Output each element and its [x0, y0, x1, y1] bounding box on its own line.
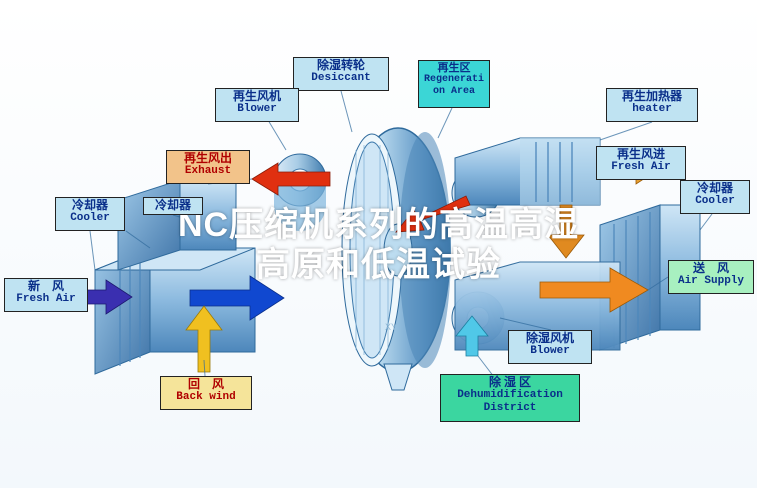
label-regen-blower-cn: 再生风机 [218, 90, 296, 103]
label-regen-blower: 再生风机Blower [215, 88, 299, 122]
label-dehum-blower-cn: 除湿风机 [511, 332, 589, 345]
label-dehum-district: 除 湿 区DehumidificationDistrict [440, 374, 580, 422]
label-cooler-right: 冷却器Cooler [680, 180, 750, 214]
label-dehum-blower-en: Blower [511, 345, 589, 357]
label-regen-fresh-air: 再生风进Fresh Air [596, 146, 686, 180]
label-cooler-left: 冷却器Cooler [55, 197, 125, 231]
label-regen-fresh-air-cn: 再生风进 [599, 148, 683, 161]
label-air-supply-en: Air Supply [671, 275, 751, 287]
label-regen-heater-cn: 再生加热器 [609, 90, 695, 103]
label-regen-exhaust: 再生风出Exhaust [166, 150, 250, 184]
label-air-supply-cn: 送 风 [671, 262, 751, 275]
diagram-canvas: XY NC压缩机系列的高温高湿 高原和低温试验 除湿转轮Desiccant再生区… [0, 0, 757, 488]
label-air-supply: 送 风Air Supply [668, 260, 754, 294]
label-regen-heater-en: heater [609, 103, 695, 115]
label-cooler-left-cn: 冷却器 [58, 199, 122, 212]
label-fresh-air-en: Fresh Air [7, 293, 85, 305]
label-regen-fresh-air-en: Fresh Air [599, 161, 683, 173]
label-fresh-air: 新 风Fresh Air [4, 278, 88, 312]
label-regen-exhaust-cn: 再生风出 [169, 152, 247, 165]
label-back-wind-en: Back wind [163, 391, 249, 403]
label-back-wind: 回 风Back wind [160, 376, 252, 410]
label-dehum-district-en-2: District [443, 402, 577, 414]
label-dehum-district-en: Dehumidification [443, 389, 577, 401]
label-dehum-blower: 除湿风机Blower [508, 330, 592, 364]
label-cooler-mid-cn: 冷却器 [146, 199, 200, 212]
label-cooler-right-en: Cooler [683, 195, 747, 207]
overlay-title-line2: 高原和低温试验 [0, 245, 757, 285]
label-regen-heater: 再生加热器heater [606, 88, 698, 122]
label-cooler-right-cn: 冷却器 [683, 182, 747, 195]
label-regeneration-area-cn: 再生区 [421, 62, 487, 74]
label-regen-exhaust-en: Exhaust [169, 165, 247, 177]
label-back-wind-cn: 回 风 [163, 378, 249, 391]
label-desiccant-wheel: 除湿转轮Desiccant [293, 57, 389, 91]
label-regeneration-area-en-2: on Area [421, 86, 487, 97]
label-regeneration-area: 再生区Regeneration Area [418, 60, 490, 108]
label-regeneration-area-en: Regenerati [421, 74, 487, 85]
label-fresh-air-cn: 新 风 [7, 280, 85, 293]
label-regen-blower-en: Blower [218, 103, 296, 115]
label-cooler-left-en: Cooler [58, 212, 122, 224]
label-dehum-district-cn: 除 湿 区 [443, 376, 577, 389]
svg-text:XY: XY [385, 322, 397, 332]
label-cooler-mid: 冷却器 [143, 197, 203, 215]
label-desiccant-wheel-en: Desiccant [296, 72, 386, 84]
label-desiccant-wheel-cn: 除湿转轮 [296, 59, 386, 72]
